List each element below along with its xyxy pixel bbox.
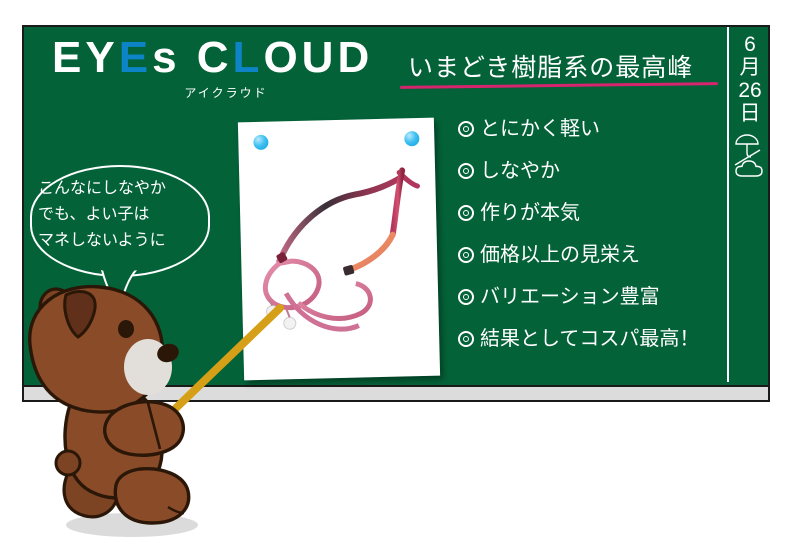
brand-logo: EYEs CLOUD アイクラウド <box>52 36 376 101</box>
board-divider <box>727 27 729 382</box>
speech-bubble-text: こんなにしなやか でも、よい子は マネしないように <box>38 176 204 254</box>
brand-logo-letter: L <box>233 33 264 82</box>
brand-logo-letter: C <box>181 33 233 82</box>
double-circle-bullet-icon <box>458 205 474 221</box>
double-circle-bullet-icon <box>458 163 474 179</box>
date-day-label: 日 <box>731 102 769 125</box>
double-circle-bullet-icon <box>458 121 474 137</box>
brand-logo-wordmark: EYEs CLOUD <box>52 36 376 80</box>
list-item: とにかく軽い <box>458 118 723 140</box>
list-item: 作りが本気 <box>458 202 723 224</box>
list-item: 結果としてコスパ最高！ <box>458 328 723 350</box>
bear-mascot <box>20 285 250 540</box>
date-day-number: 26 <box>731 79 769 102</box>
double-circle-bullet-icon <box>458 289 474 305</box>
double-circle-bullet-icon <box>458 331 474 347</box>
headline-text: いまどき樹脂系の最高峰 <box>408 48 718 84</box>
date-month-label: 月 <box>731 56 769 79</box>
brand-logo-subtitle: アイクラウド <box>76 84 376 101</box>
list-item-label: しなやか <box>480 160 560 182</box>
speech-line: でも、よい子は <box>38 202 204 228</box>
double-circle-bullet-icon <box>458 247 474 263</box>
weather-icon <box>731 131 769 190</box>
brand-logo-letter: OUD <box>263 33 373 82</box>
date-column: 6 月 26 日 <box>731 33 769 190</box>
list-item-label: 作りが本気 <box>480 202 580 224</box>
list-item-label: 結果としてコスパ最高！ <box>480 328 699 350</box>
list-item-label: バリエーション豊富 <box>480 286 660 308</box>
slide-canvas: EYEs CLOUD アイクラウド いまどき樹脂系の最高峰 6 月 26 日 <box>0 0 800 550</box>
list-item-label: 価格以上の見栄え <box>480 244 640 266</box>
list-item-label: とにかく軽い <box>480 118 600 140</box>
list-item: 価格以上の見栄え <box>458 244 723 266</box>
brand-logo-letter: EY <box>52 33 119 82</box>
date-month-number: 6 <box>731 33 769 56</box>
speech-line: こんなにしなやか <box>38 176 204 202</box>
brand-logo-letter: s <box>152 33 180 82</box>
brand-logo-letter: E <box>119 33 152 82</box>
speech-line: マネしないように <box>38 228 204 254</box>
list-item: しなやか <box>458 160 723 182</box>
list-item: バリエーション豊富 <box>458 286 723 308</box>
feature-list: とにかく軽い しなやか 作りが本気 価格以上の見栄え バリエーション豊富 結果と… <box>458 118 723 370</box>
